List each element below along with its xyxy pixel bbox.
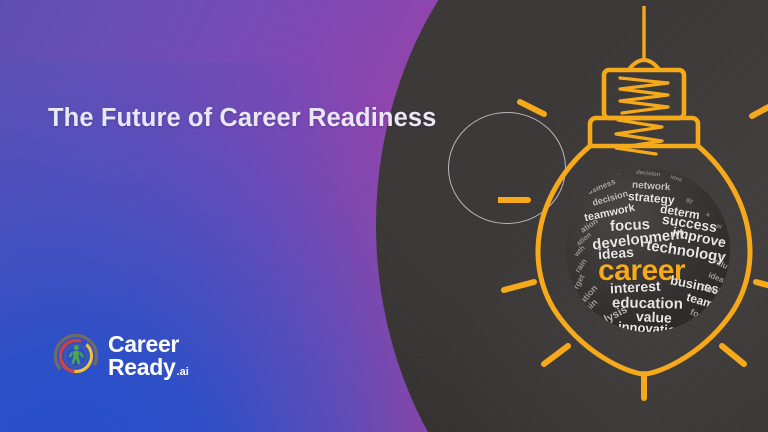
career-ready-swirl-icon bbox=[54, 334, 98, 378]
logo-ai-suffix: .ai bbox=[177, 367, 189, 378]
slide-title: The Future of Career Readiness bbox=[48, 104, 436, 133]
career-ready-logo[interactable]: Career Ready.ai bbox=[54, 333, 189, 379]
logo-ready-text: Ready bbox=[108, 356, 176, 379]
logo-line-career: Career bbox=[108, 333, 189, 356]
word-cloud-sphere: education decision idea business network… bbox=[566, 168, 730, 332]
logo-line-ready: Ready.ai bbox=[108, 356, 189, 379]
slide-canvas: education decision idea business network… bbox=[0, 0, 768, 432]
logo-wordmark: Career Ready.ai bbox=[108, 333, 189, 379]
